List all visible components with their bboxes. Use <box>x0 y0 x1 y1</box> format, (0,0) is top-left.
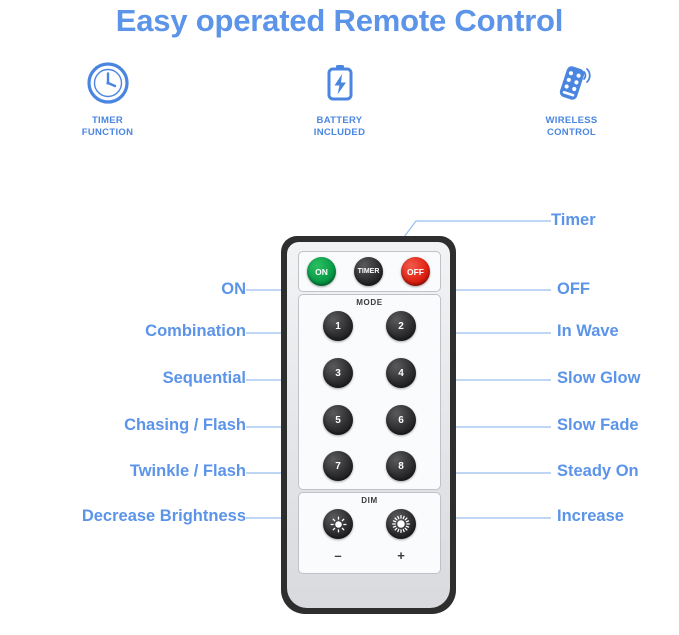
feature-badges: TIMERFUNCTION BATTERYINCLUDED <box>0 60 679 139</box>
callout-timer: Timer <box>551 211 596 230</box>
button-mode-8[interactable]: 8 <box>386 451 416 481</box>
button-on[interactable]: ON <box>307 257 336 286</box>
button-mode-6[interactable]: 6 <box>386 405 416 435</box>
button-mode-1[interactable]: 1 <box>323 311 353 341</box>
panel-mode: MODE 1 2 3 4 5 6 7 8 <box>298 294 441 490</box>
feature-label: WIRELESSCONTROL <box>545 115 597 139</box>
feature-wireless-control: WIRELESSCONTROL <box>512 60 632 139</box>
callout-increase: Increase <box>557 507 624 526</box>
remote-face: ON TIMER OFF MODE 1 2 3 4 5 6 7 8 DIM <box>287 242 450 608</box>
mode-label: MODE <box>299 298 440 307</box>
callout-decrease-brightness: Decrease Brightness <box>0 507 246 526</box>
panel-dim: DIM <box>298 492 441 574</box>
callout-twinkle-flash: Twinkle / Flash <box>26 462 246 481</box>
button-increase-brightness[interactable] <box>386 509 416 539</box>
callout-chasing-flash: Chasing / Flash <box>26 416 246 435</box>
callout-sequential: Sequential <box>46 369 246 388</box>
button-timer[interactable]: TIMER <box>354 257 383 286</box>
minus-sign: – <box>328 548 348 563</box>
remote-icon <box>549 60 595 106</box>
dim-label: DIM <box>299 496 440 505</box>
feature-label: TIMERFUNCTION <box>82 115 133 139</box>
callout-slow-glow: Slow Glow <box>557 369 640 388</box>
clock-icon <box>85 60 131 106</box>
feature-label: BATTERYINCLUDED <box>314 115 365 139</box>
callout-on: ON <box>196 280 246 299</box>
sun-high-icon <box>392 515 410 533</box>
battery-icon <box>317 60 363 106</box>
callout-in-wave: In Wave <box>557 322 619 341</box>
button-mode-2[interactable]: 2 <box>386 311 416 341</box>
page-title: Easy operated Remote Control <box>0 0 679 42</box>
callout-steady-on: Steady On <box>557 462 639 481</box>
sun-low-icon <box>330 516 347 533</box>
callout-slow-fade: Slow Fade <box>557 416 639 435</box>
button-mode-4[interactable]: 4 <box>386 358 416 388</box>
plus-sign: + <box>391 548 411 563</box>
button-decrease-brightness[interactable] <box>323 509 353 539</box>
callout-combination: Combination <box>46 322 246 341</box>
remote-control: ON TIMER OFF MODE 1 2 3 4 5 6 7 8 DIM <box>281 236 456 614</box>
button-mode-5[interactable]: 5 <box>323 405 353 435</box>
button-mode-7[interactable]: 7 <box>323 451 353 481</box>
feature-battery-included: BATTERYINCLUDED <box>280 60 400 139</box>
panel-power: ON TIMER OFF <box>298 251 441 292</box>
button-mode-3[interactable]: 3 <box>323 358 353 388</box>
feature-timer-function: TIMERFUNCTION <box>48 60 168 139</box>
button-off[interactable]: OFF <box>401 257 430 286</box>
callout-off: OFF <box>557 280 590 299</box>
